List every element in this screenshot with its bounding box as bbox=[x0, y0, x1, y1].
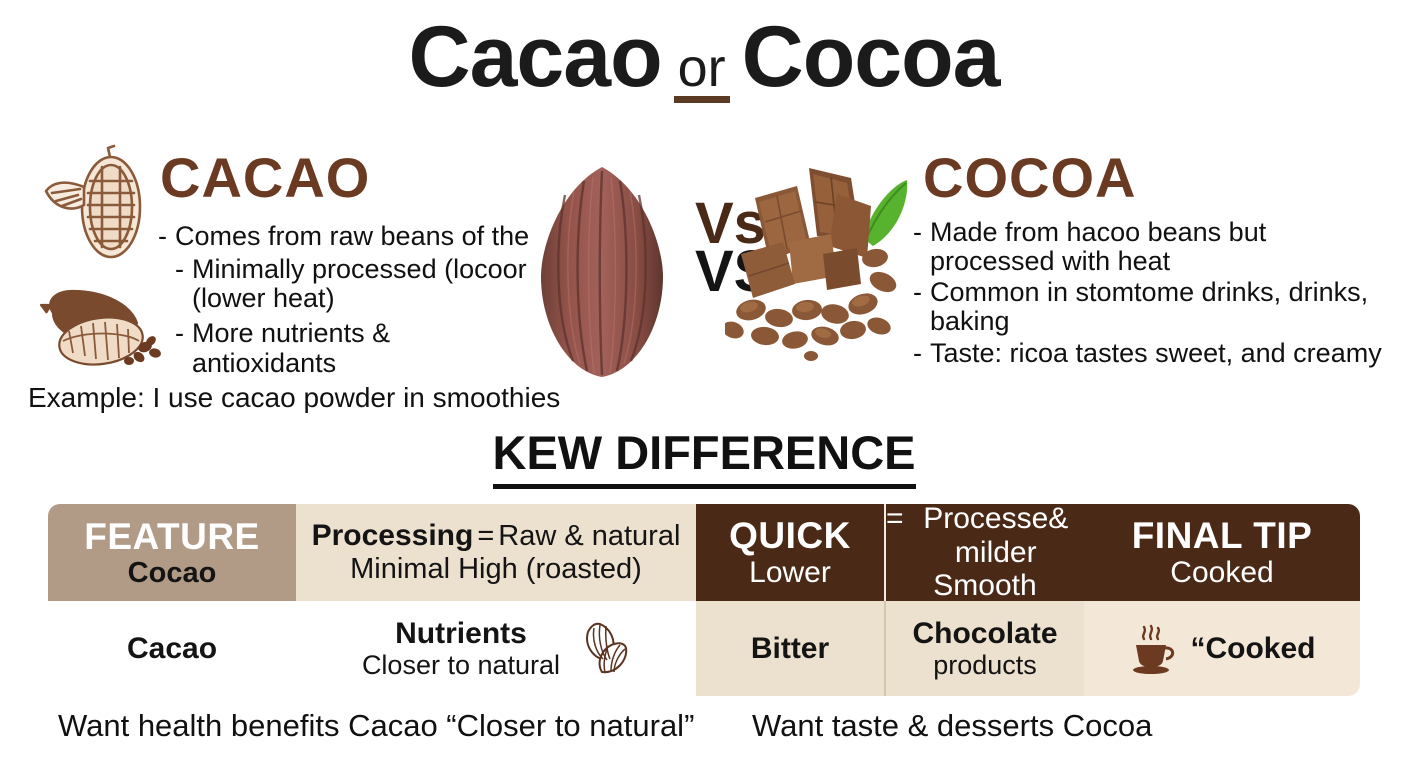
cacao-example-text: Example: I use cacao powder in smoothies bbox=[28, 383, 540, 412]
chocolate-subtitle: products bbox=[933, 650, 1037, 680]
smooth-subtitle: Smooth bbox=[933, 569, 1036, 603]
table-header-row: FEATURE Cocao Processing = Raw & natural… bbox=[48, 504, 1360, 601]
cacao-pod-photo bbox=[535, 165, 670, 380]
cacao-heading-wrap: CACAO bbox=[160, 150, 540, 206]
list-item: Common in stomtome drinks, drinks, bakin… bbox=[913, 278, 1395, 336]
list-item: Taste: ricoa tastes sweet, and creamy bbox=[913, 339, 1395, 368]
table-cell-cooked: “Cooked bbox=[1084, 601, 1360, 696]
table-cell-smooth: = Processe& milder Smooth bbox=[884, 504, 1084, 601]
processing-title: Processing bbox=[312, 519, 474, 553]
table-cell-quick: QUICK Lower bbox=[696, 504, 884, 601]
cocoa-heading-wrap: COCOA bbox=[923, 150, 1395, 206]
feature-title: FEATURE bbox=[84, 516, 259, 557]
quick-value: Processe& milder bbox=[908, 502, 1084, 569]
footer-left-text: Want health benefits Cacao “Closer to na… bbox=[58, 708, 694, 744]
comparison-table: FEATURE Cocao Processing = Raw & natural… bbox=[48, 504, 1360, 696]
title-word-cacao: Cacao bbox=[409, 9, 662, 105]
footer-right-text: Want taste & desserts Cocoa bbox=[752, 708, 1152, 744]
cacao-column: CACAO Comes from raw beans of the Minima… bbox=[20, 150, 540, 412]
bitter-label: Bitter bbox=[751, 632, 829, 666]
chocolate-title: Chocolate bbox=[912, 617, 1057, 651]
cacao-beans-icon bbox=[570, 620, 630, 678]
cooked-label: “Cooked bbox=[1190, 632, 1315, 666]
quick-title-row: QUICK bbox=[729, 515, 851, 556]
table-cell-cacao: Cacao bbox=[48, 601, 296, 696]
cacao-label: Cacao bbox=[127, 632, 217, 666]
cacao-bullet-list: Comes from raw beans of the Minimally pr… bbox=[148, 222, 540, 378]
title-conjunction-or: or bbox=[674, 43, 730, 103]
list-item: Comes from raw beans of the bbox=[158, 222, 540, 251]
final-tip-subtitle: Cooked bbox=[1170, 556, 1273, 590]
table-cell-nutrients: Nutrients Closer to natural bbox=[296, 601, 696, 696]
cocoa-bullet-list: Made from hacoo beans but processed with… bbox=[913, 218, 1395, 368]
processing-equals: = bbox=[477, 520, 494, 552]
nutrients-subtitle: Closer to natural bbox=[362, 650, 560, 680]
quick-value-row: = Processe& milder bbox=[886, 502, 1084, 569]
key-difference-section: KEW DIFFERENCE bbox=[0, 425, 1408, 489]
feature-subtitle: Cocao bbox=[128, 557, 217, 589]
table-cell-chocolate: Chocolate products bbox=[884, 601, 1084, 696]
cocoa-heading: COCOA bbox=[923, 150, 1395, 206]
table-cell-feature: FEATURE Cocao bbox=[48, 504, 296, 601]
cacao-heading: CACAO bbox=[160, 150, 540, 206]
quick-equals: = bbox=[886, 502, 904, 536]
list-item: Minimally processed (locoor (lower heat) bbox=[175, 255, 540, 313]
processing-title-row: Processing = Raw & natural bbox=[312, 519, 681, 553]
page-title: CacaoorCocoa bbox=[0, 14, 1408, 103]
list-item: Made from hacoo beans but processed with… bbox=[913, 218, 1395, 276]
table-row: Cacao Nutrients Closer to natural bbox=[48, 601, 1360, 696]
table-cell-bitter: Bitter bbox=[696, 601, 884, 696]
quick-subtitle: Lower bbox=[749, 556, 831, 590]
final-tip-title: FINAL TIP bbox=[1132, 515, 1313, 556]
table-cell-final-tip: FINAL TIP Cooked bbox=[1084, 504, 1360, 601]
processing-value: Raw & natural bbox=[498, 520, 680, 552]
key-difference-heading: KEW DIFFERENCE bbox=[493, 425, 916, 489]
list-item: More nutrients & antioxidants bbox=[175, 319, 540, 377]
table-cell-processing: Processing = Raw & natural Minimal High … bbox=[296, 504, 696, 601]
center-vs-graphic: Vs VS bbox=[535, 150, 910, 400]
nutrients-title: Nutrients bbox=[395, 617, 527, 651]
title-word-cocoa: Cocoa bbox=[742, 9, 1000, 105]
cocoa-column: COCOA Made from hacoo beans but processe… bbox=[905, 150, 1395, 370]
chocolate-pile-photo bbox=[725, 150, 910, 365]
coffee-cup-icon bbox=[1128, 623, 1180, 675]
processing-subtitle: Minimal High (roasted) bbox=[350, 553, 642, 585]
quick-title: QUICK bbox=[729, 515, 851, 556]
